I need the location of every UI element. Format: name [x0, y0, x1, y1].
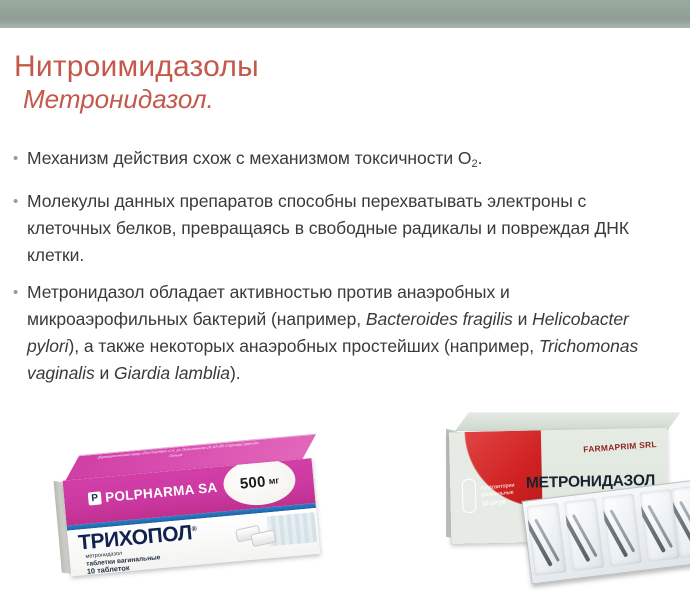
suppository-outline-icon [462, 479, 477, 513]
species-giardia-lamblia: Giardia lamblia [114, 363, 230, 383]
list-item: • Метронидазол обладает активностью прот… [10, 279, 675, 387]
product-image-metronidazol: суппозитории вагинальные 10 штук FARMAPR… [448, 412, 688, 580]
trichopol-tablets-graphic [235, 523, 281, 549]
bullet-text-3: Метронидазол обладает активностью против… [27, 279, 675, 387]
trichopol-dose-number: 500 [239, 473, 266, 492]
slide-canvas: Нитроимидазолы Метронидазол. • Механизм … [0, 0, 690, 583]
top-decorative-band [0, 0, 690, 28]
page-subtitle: Метронидазол. [23, 85, 674, 115]
trichopol-box: фармацевтический завод «POLPHARMA» С.А. … [52, 431, 336, 595]
bullet-3-p2: и [513, 309, 532, 329]
trichopol-registered-mark-icon: ® [191, 526, 196, 533]
bullet-marker-icon: • [10, 279, 27, 306]
bullet-3-p5: ). [230, 363, 241, 383]
bullet-marker-icon: • [10, 188, 27, 215]
bullet-list: • Механизм действия схож с механизмом то… [10, 145, 675, 397]
list-item: • Механизм действия схож с механизмом то… [10, 145, 675, 178]
bullet-1-pre: Механизм действия схож с механизмом токс… [27, 148, 471, 168]
farmaprim-manufacturer-label: FARMAPRIM SRL [583, 439, 657, 454]
trichopol-dose-unit: мг [268, 475, 279, 486]
bullet-3-p3: ), а также некоторых анаэробных простейш… [69, 336, 539, 356]
bullet-3-p4: и [95, 363, 114, 383]
bullet-text-2: Молекулы данных препаратов способны пере… [27, 188, 675, 269]
list-item: • Молекулы данных препаратов способны пе… [10, 188, 675, 269]
bullet-marker-icon: • [10, 145, 27, 172]
polpharma-logo-mark-icon: P [88, 491, 102, 505]
product-image-trichopol: фармацевтический завод «POLPHARMA» С.А. … [58, 443, 330, 583]
species-bacteroides-fragilis: Bacteroides fragilis [366, 309, 513, 329]
metronidazol-box: суппозитории вагинальные 10 штук FARMAPR… [448, 412, 688, 580]
title-block: Нитроимидазолы Метронидазол. [14, 50, 674, 114]
bullet-1-post: . [478, 148, 483, 168]
page-title: Нитроимидазолы [14, 50, 674, 84]
bullet-text-1: Механизм действия схож с механизмом токс… [27, 145, 675, 178]
